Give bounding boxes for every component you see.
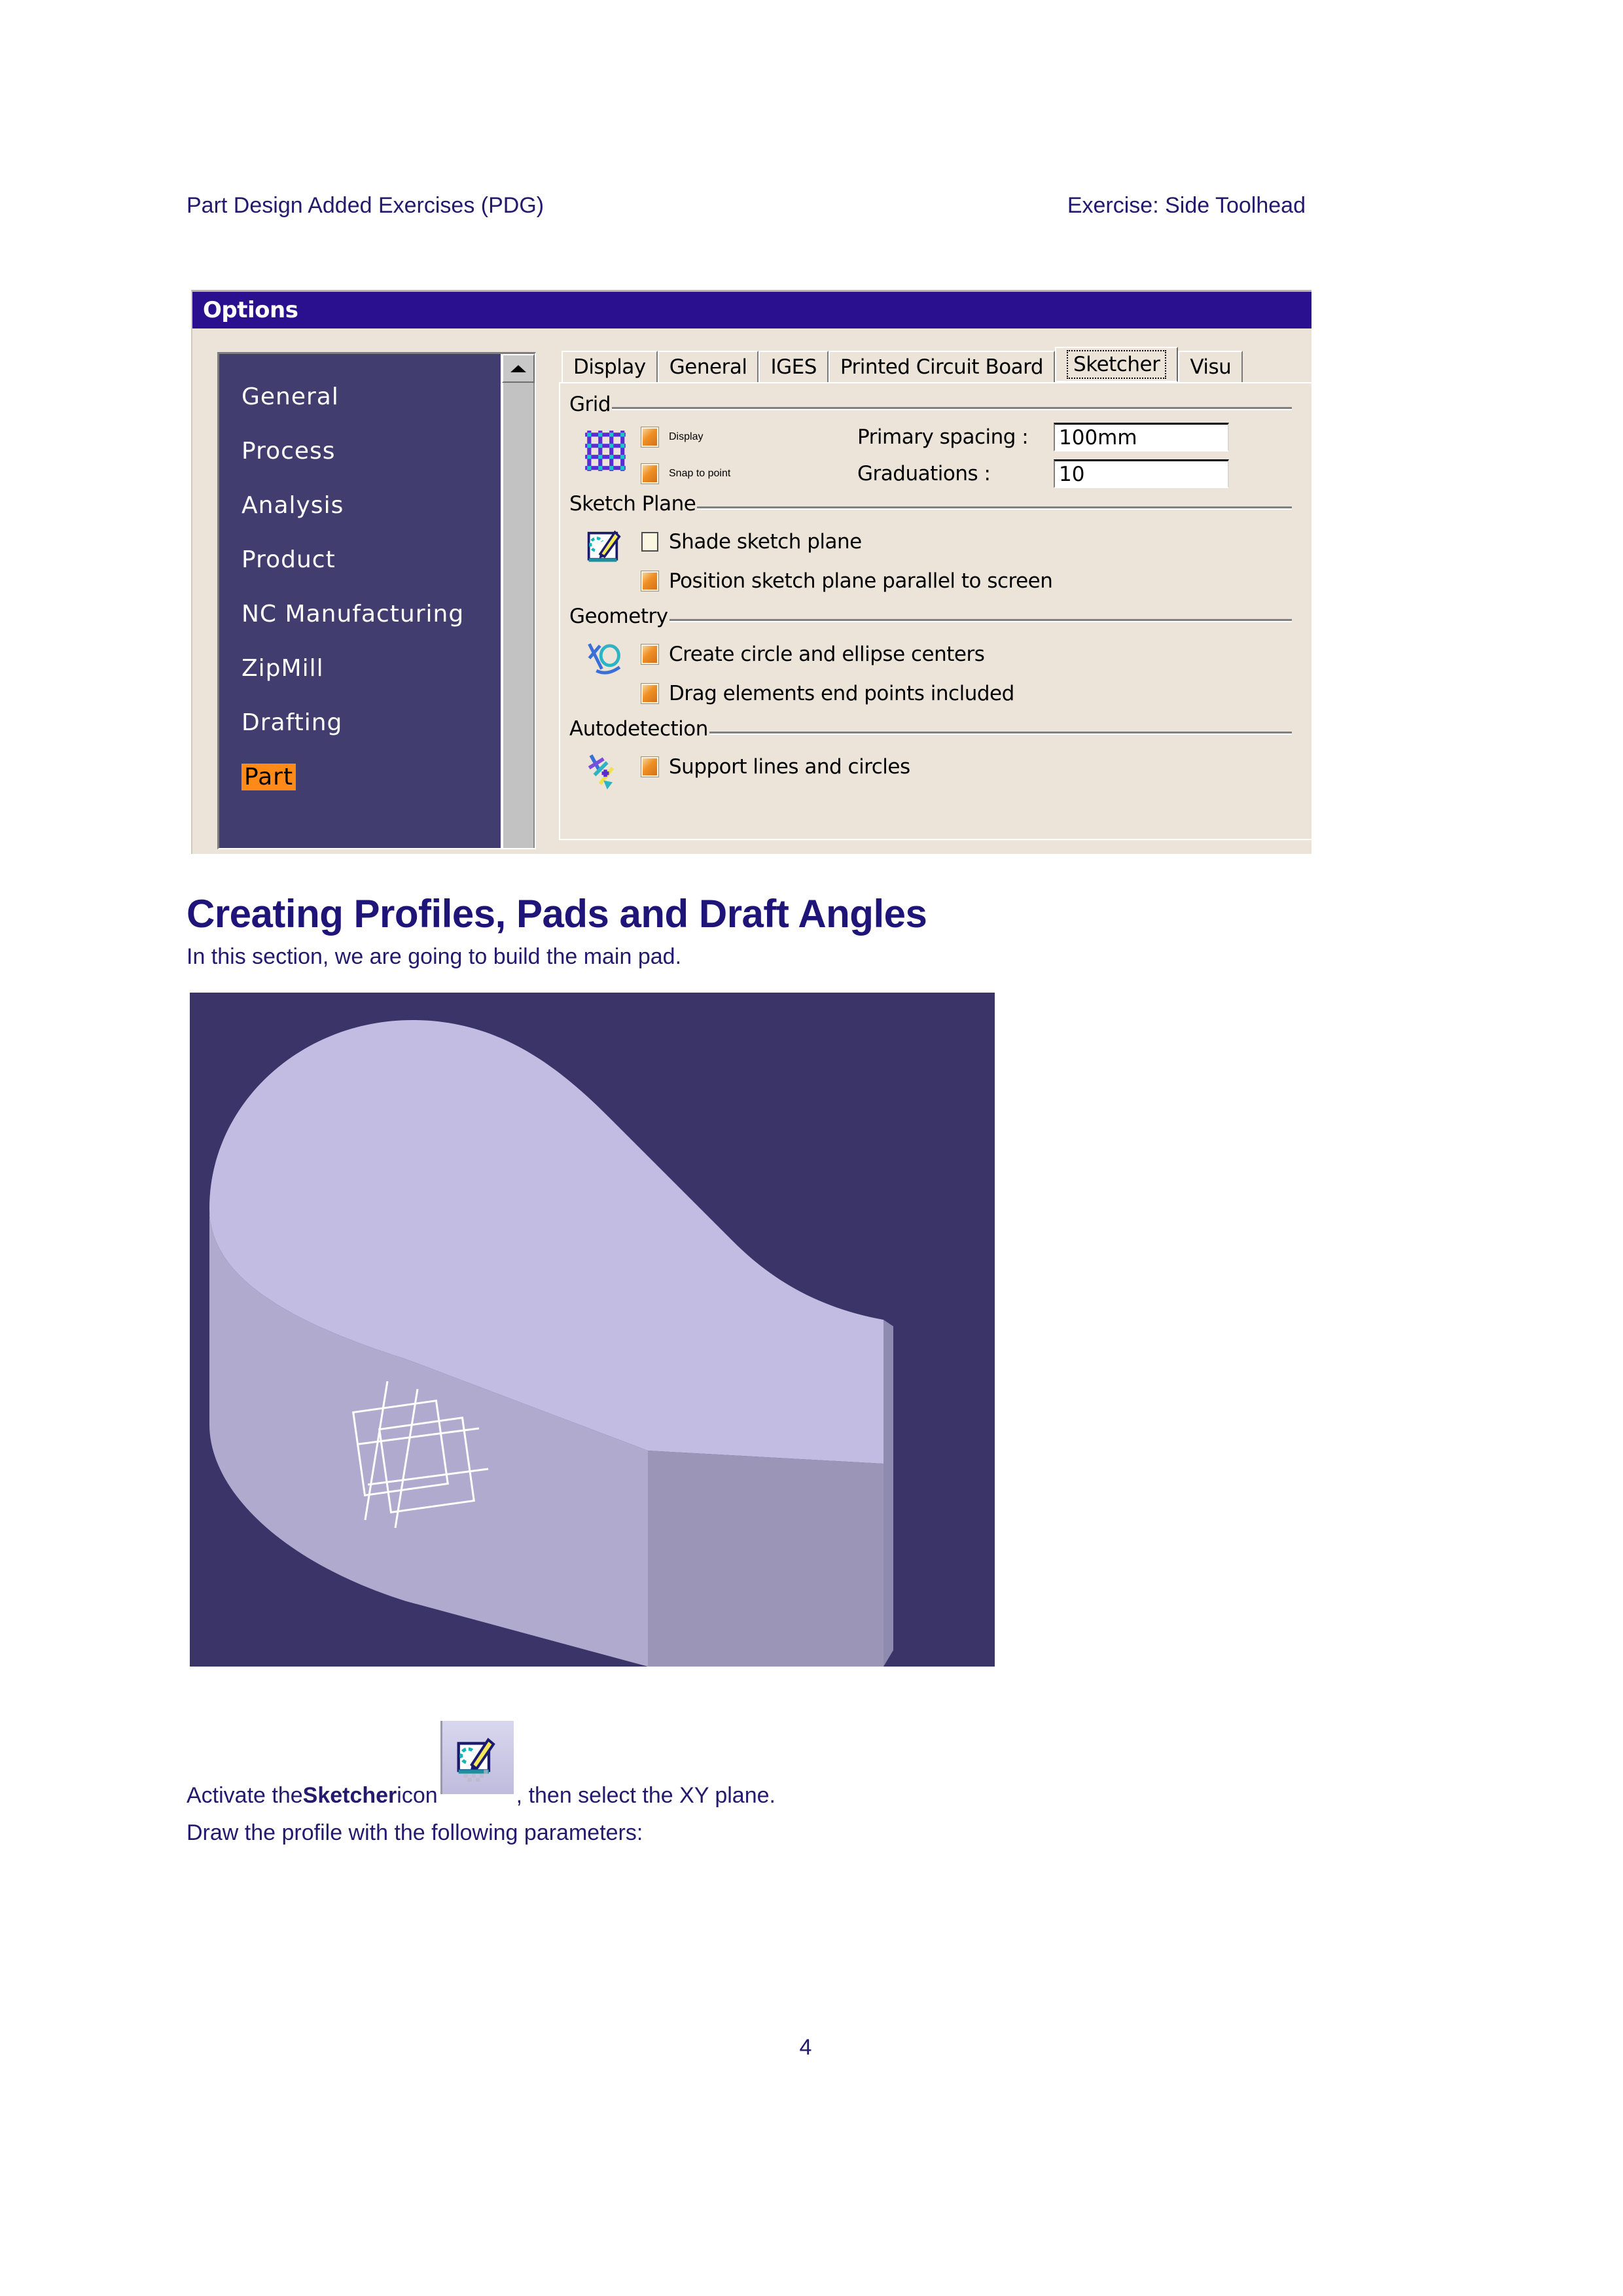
grid-icon	[569, 423, 641, 488]
grid-display-label: Display	[669, 431, 703, 443]
options-dialog: Options General Process Analysis Product…	[191, 290, 1311, 854]
position-sketch-plane-label: Position sketch plane parallel to screen	[669, 569, 1052, 593]
instruction-prefix: Activate the	[187, 1783, 303, 1809]
tab-display[interactable]: Display	[562, 351, 658, 382]
tree-item-label: Drafting	[241, 709, 342, 736]
instruction-mid: icon	[397, 1783, 437, 1809]
grid-display-checkbox-row[interactable]: Display	[641, 427, 857, 447]
sketcher-tab-panel: Grid	[559, 382, 1311, 840]
primary-spacing-input[interactable]: 100mm	[1054, 423, 1229, 451]
tab-label: Printed Circuit Board	[840, 355, 1043, 379]
geometry-group-label: Geometry	[569, 605, 669, 628]
page-number-value: 4	[800, 2035, 812, 2060]
tree-item-part[interactable]: Part	[241, 750, 501, 804]
dialog-body: General Process Analysis Product NC Manu…	[192, 328, 1311, 854]
shade-sketch-plane-checkbox[interactable]	[641, 532, 658, 552]
graduations-input[interactable]: 10	[1054, 459, 1229, 488]
tree-item-label: Analysis	[241, 492, 344, 519]
tab-label: General	[669, 355, 747, 379]
create-centers-row[interactable]: Create circle and ellipse centers	[641, 635, 1311, 674]
support-lines-row[interactable]: Support lines and circles	[641, 747, 1311, 786]
create-centers-label: Create circle and ellipse centers	[669, 643, 984, 666]
primary-spacing-label: Primary spacing :	[857, 425, 1054, 449]
autodetect-sparkle-icon	[569, 747, 641, 792]
sketcher-keyword: Sketcher	[303, 1783, 397, 1809]
tree-item-label: ZipMill	[241, 655, 324, 682]
page-header: Part Design Added Exercises (PDG) Exerci…	[187, 193, 1440, 219]
tab-strip: Display General IGES Printed Circuit Boa…	[559, 347, 1311, 382]
header-left-title: Part Design Added Exercises (PDG)	[187, 193, 544, 219]
tree-item-label: NC Manufacturing	[241, 601, 464, 627]
support-lines-label: Support lines and circles	[669, 755, 910, 779]
shade-sketch-plane-label: Shade sketch plane	[669, 530, 862, 554]
instruction-suffix: , then select the XY plane.	[516, 1783, 776, 1809]
create-centers-checkbox[interactable]	[641, 645, 658, 664]
group-divider	[569, 407, 1292, 410]
tab-label: IGES	[770, 355, 816, 379]
drag-elements-row[interactable]: Drag elements end points included	[641, 674, 1311, 713]
tree-item-nc-manufacturing[interactable]: NC Manufacturing	[241, 587, 501, 641]
tree-item-product[interactable]: Product	[241, 533, 501, 587]
support-lines-checkbox[interactable]	[641, 757, 658, 777]
tab-label: Visu	[1190, 355, 1231, 379]
graduations-label: Graduations :	[857, 462, 1054, 486]
sketcher-pencil-icon	[569, 522, 641, 601]
grid-display-checkbox[interactable]	[641, 427, 658, 447]
sketcher-icon[interactable]	[440, 1721, 514, 1794]
tab-label: Sketcher	[1067, 350, 1166, 379]
sketch-plane-group-label: Sketch Plane	[569, 492, 697, 516]
page-number: 4	[0, 2035, 1623, 2060]
draw-profile-instruction: Draw the profile with the following para…	[187, 1820, 643, 1846]
tree-item-label: Process	[241, 438, 336, 465]
dialog-title-bar: Options	[192, 292, 1311, 328]
tree-item-label: General	[241, 383, 339, 410]
drag-elements-label: Drag elements end points included	[669, 682, 1014, 705]
tree-item-zipmill[interactable]: ZipMill	[241, 641, 501, 696]
position-sketch-plane-checkbox[interactable]	[641, 571, 658, 591]
tree-item-general[interactable]: General	[241, 370, 501, 424]
tab-sketcher[interactable]: Sketcher	[1055, 347, 1178, 382]
scrollbar-track[interactable]	[502, 383, 535, 848]
tree-vertical-scrollbar[interactable]	[501, 354, 535, 848]
autodetection-group-label: Autodetection	[569, 717, 709, 741]
position-sketch-plane-row[interactable]: Position sketch plane parallel to screen	[641, 561, 1311, 601]
tree-item-process[interactable]: Process	[241, 424, 501, 478]
tab-printed-circuit-board[interactable]: Printed Circuit Board	[829, 351, 1055, 382]
scroll-up-button[interactable]	[502, 354, 535, 383]
grid-snap-checkbox[interactable]	[641, 464, 658, 484]
grid-group-label: Grid	[569, 393, 612, 416]
tab-label: Display	[573, 355, 646, 379]
tree-item-drafting[interactable]: Drafting	[241, 696, 501, 750]
group-divider	[569, 619, 1292, 622]
pad-solid-render	[190, 993, 995, 1667]
tab-visualization[interactable]: Visu	[1178, 351, 1243, 382]
sketch-plane-group: Sketch Plane	[569, 492, 1311, 601]
options-right-pane: Display General IGES Printed Circuit Boa…	[559, 347, 1311, 854]
tree-item-list: General Process Analysis Product NC Manu…	[219, 354, 501, 848]
page-title: Creating Profiles, Pads and Draft Angles	[187, 891, 927, 936]
3d-pad-preview	[190, 993, 995, 1667]
section-subtext: In this section, we are going to build t…	[187, 944, 681, 970]
geometry-group: Geometry	[569, 605, 1311, 713]
drag-elements-checkbox[interactable]	[641, 684, 658, 703]
tab-iges[interactable]: IGES	[758, 351, 828, 382]
chevron-up-icon	[510, 365, 526, 372]
dialog-title: Options	[203, 297, 298, 323]
grid-snap-checkbox-row[interactable]: Snap to point	[641, 464, 857, 484]
tab-general[interactable]: General	[658, 351, 759, 382]
tree-item-label: Part	[241, 764, 296, 790]
shade-sketch-plane-row[interactable]: Shade sketch plane	[641, 522, 1311, 561]
header-right-title: Exercise: Side Toolhead	[1067, 193, 1306, 219]
circle-ellipse-icon	[569, 635, 641, 713]
options-category-tree: General Process Analysis Product NC Manu…	[217, 352, 536, 849]
tree-item-label: Product	[241, 546, 336, 573]
grid-group: Grid	[569, 393, 1311, 488]
tree-item-analysis[interactable]: Analysis	[241, 478, 501, 533]
grid-snap-label: Snap to point	[669, 468, 730, 480]
autodetection-group: Autodetection	[569, 717, 1311, 792]
